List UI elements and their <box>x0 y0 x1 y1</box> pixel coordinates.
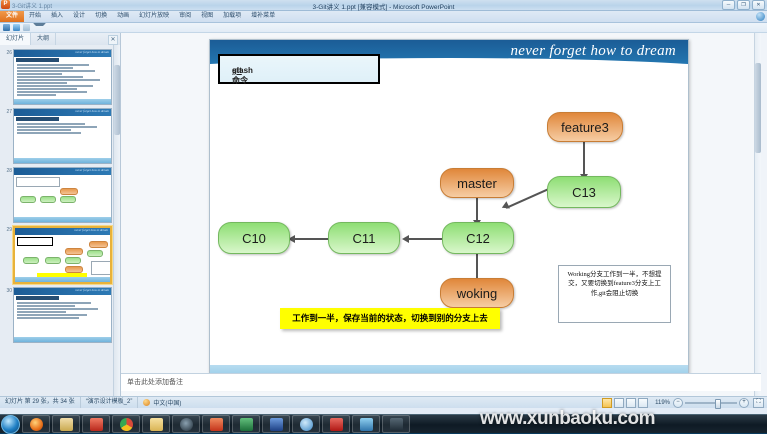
status-theme-name[interactable]: “演示设计模板_2” <box>81 397 139 408</box>
restore-button[interactable]: ❐ <box>737 0 750 10</box>
windows-start-orb-icon[interactable] <box>1 415 20 434</box>
taskbar-item-folder[interactable] <box>142 415 170 433</box>
zoom-slider-knob[interactable] <box>715 399 721 409</box>
thumbnail-list[interactable]: 26 never forget how to dream <box>0 45 114 406</box>
node-c13-label: C13 <box>572 185 596 200</box>
tab-outline[interactable]: 大纲 <box>31 33 56 45</box>
status-language-label: 中文(中国) <box>153 398 181 407</box>
mini-footer <box>14 217 111 222</box>
node-c13[interactable]: C13 <box>547 176 621 208</box>
thumbnail-number: 29 <box>1 226 12 233</box>
mini-banner: never forget how to dream <box>14 109 111 116</box>
mini-title-bar <box>16 58 59 62</box>
thumbnail-item[interactable]: 28 never forget how to dream <box>0 165 114 224</box>
thumbnail-item[interactable]: 30 never forget how to dream <box>0 285 114 344</box>
save-icon[interactable] <box>3 24 10 31</box>
mini-banner: never forget how to dream <box>14 50 111 57</box>
node-c12[interactable]: C12 <box>442 222 514 254</box>
status-slide-count: 幻灯片 第 29 张，共 34 张 <box>0 397 81 408</box>
ribbon-tab-addins[interactable]: 加载项 <box>218 11 246 22</box>
tab-slides[interactable]: 幻灯片 <box>0 33 31 45</box>
thumbnail-preview[interactable]: never forget how to dream <box>13 167 112 223</box>
window-controls: ─ ❐ ✕ <box>722 0 765 10</box>
node-feature3-label: feature3 <box>561 120 609 135</box>
chevron-down-icon[interactable] <box>33 23 46 33</box>
ribbon-tab-file[interactable]: 文件 <box>0 11 24 22</box>
quick-access-toolbar <box>0 23 767 33</box>
node-c10-label: C10 <box>242 231 266 246</box>
explanation-text-box[interactable]: Working分支工作到一半，不想提交，又要切换到feature3分支上工作,g… <box>558 265 671 323</box>
mini-banner: never forget how to dream <box>15 228 110 235</box>
slide-vertical-scrollbar[interactable] <box>754 33 761 406</box>
thumbnail-scrollbar-knob[interactable] <box>114 65 120 135</box>
thumbnail-number: 30 <box>1 287 12 294</box>
slide-banner-text: never forget how to dream <box>510 43 676 60</box>
node-c11[interactable]: C11 <box>328 222 400 254</box>
minimize-button[interactable]: ─ <box>722 0 735 10</box>
close-pane-icon[interactable]: ✕ <box>108 35 118 45</box>
taskbar-item-excel[interactable] <box>232 415 260 433</box>
slide-title-box[interactable]: git stash命令 <box>218 54 380 84</box>
node-c12-label: C12 <box>466 231 490 246</box>
powerpoint-window: P 3-Git讲义 1.ppt 3-Git讲义 1.ppt [兼容模式] - M… <box>0 0 767 414</box>
node-c10[interactable]: C10 <box>218 222 290 254</box>
mini-banner-text: never forget how to dream <box>75 288 109 292</box>
title-bar: P 3-Git讲义 1.ppt 3-Git讲义 1.ppt [兼容模式] - M… <box>0 0 767 11</box>
mini-title-bar <box>16 296 59 300</box>
mini-banner-text: never forget how to dream <box>75 168 109 172</box>
fit-to-window-button[interactable]: ⛶ <box>753 398 764 408</box>
zoom-out-button[interactable]: − <box>673 398 683 408</box>
mini-title-bar <box>16 117 59 121</box>
close-button[interactable]: ✕ <box>752 0 765 10</box>
current-slide[interactable]: never forget how to dream git stash命令 <box>209 39 689 388</box>
mini-banner-text: never forget how to dream <box>75 109 109 113</box>
language-globe-icon <box>143 399 150 406</box>
ribbon-tab-home[interactable]: 开始 <box>24 11 46 22</box>
node-master-label: master <box>457 176 497 191</box>
slide-thumbnail-pane: 幻灯片 大纲 ✕ 26 never forget how to dream <box>0 33 121 406</box>
taskbar-item-word[interactable] <box>262 415 290 433</box>
status-language[interactable]: 中文(中国) <box>138 398 186 407</box>
thumbnail-item-selected[interactable]: 29 never forget how to dream <box>0 224 114 285</box>
taskbar-item-chrome[interactable] <box>112 415 140 433</box>
mini-banner: never forget how to dream <box>14 168 111 175</box>
node-c11-label: C11 <box>353 231 376 246</box>
ribbon-tab-transitions[interactable]: 切换 <box>90 11 112 22</box>
mini-footer <box>14 99 111 104</box>
redo-icon[interactable] <box>23 24 30 31</box>
status-bar: 幻灯片 第 29 张，共 34 张 “演示设计模板_2” 中文(中国) 119%… <box>0 396 767 408</box>
ribbon-tab-insert[interactable]: 插入 <box>46 11 68 22</box>
arrow-master-c12 <box>476 196 478 222</box>
zoom-slider-track[interactable] <box>685 402 737 404</box>
arrowhead-c13-c12 <box>502 201 512 212</box>
thumbnail-preview[interactable]: never forget how to dream <box>13 108 112 164</box>
notes-pane[interactable]: 单击此处添加备注 <box>121 373 761 391</box>
arrow-woking-c12 <box>476 252 478 278</box>
slide-scrollbar-knob[interactable] <box>755 63 761 153</box>
view-buttons <box>598 398 652 408</box>
taskbar-item-explorer[interactable] <box>52 415 80 433</box>
thumbnail-item[interactable]: 27 never forget how to dream <box>0 106 114 165</box>
ribbon-tab-view[interactable]: 视图 <box>196 11 218 22</box>
mini-banner-text: never forget how to dream <box>75 50 109 54</box>
window-title: 3-Git讲义 1.ppt [兼容模式] - Microsoft PowerPo… <box>0 1 767 11</box>
reading-view-button[interactable] <box>626 398 636 408</box>
arrow-c12-c11 <box>406 238 442 240</box>
taskbar-item-acrobat[interactable] <box>322 415 350 433</box>
thumbnail-scrollbar[interactable] <box>113 45 120 406</box>
ribbon-tab-review[interactable]: 审阅 <box>174 11 196 22</box>
node-woking-label: woking <box>457 286 497 301</box>
ribbon-tab-extra-menu[interactable]: 增补菜单 <box>246 11 280 22</box>
slideshow-view-button[interactable] <box>638 398 648 408</box>
mini-banner: never forget how to dream <box>14 288 111 295</box>
zoom-in-button[interactable]: + <box>739 398 749 408</box>
taskbar-item-terminal[interactable] <box>382 415 410 433</box>
thumbnail-number: 28 <box>1 167 12 174</box>
thumbnail-number: 26 <box>1 49 12 56</box>
ribbon-tab-design[interactable]: 设计 <box>68 11 90 22</box>
thumbnail-preview[interactable]: never forget how to dream <box>13 287 112 343</box>
node-woking[interactable]: woking <box>440 278 514 308</box>
slide-title-suffix: stash命令 <box>232 66 253 86</box>
ribbon-tab-slideshow[interactable]: 幻灯片放映 <box>134 11 174 22</box>
highlight-callout-box[interactable]: 工作到一半，保存当前的状态，切换到别的分支上去 <box>280 308 500 329</box>
taskbar-item-firefox[interactable] <box>22 415 50 433</box>
zoom-level-label[interactable]: 119% <box>652 400 673 406</box>
node-feature3[interactable]: feature3 <box>547 112 623 142</box>
arrow-feature3-c13 <box>583 140 585 176</box>
mini-footer <box>15 277 110 282</box>
help-icon[interactable] <box>756 12 765 21</box>
taskbar-item-photo-viewer[interactable] <box>352 415 380 433</box>
workspace: 幻灯片 大纲 ✕ 26 never forget how to dream <box>0 33 767 406</box>
ribbon-tab-strip: 文件 开始 插入 设计 切换 动画 幻灯片放映 审阅 视图 加载项 增补菜单 <box>0 11 767 23</box>
ribbon-tab-animations[interactable]: 动画 <box>112 11 134 22</box>
windows-taskbar <box>0 414 767 433</box>
mini-banner-text: never forget how to dream <box>74 228 108 232</box>
node-master[interactable]: master <box>440 168 514 198</box>
thumbnail-preview[interactable]: never forget how to dream <box>13 226 112 284</box>
taskbar-item-powerpoint[interactable] <box>202 415 230 433</box>
slide-sorter-view-button[interactable] <box>614 398 624 408</box>
mini-footer <box>14 158 111 163</box>
mini-footer <box>14 337 111 342</box>
arrow-c11-c10 <box>292 238 328 240</box>
slide-edit-area: never forget how to dream git stash命令 <box>121 33 761 406</box>
taskbar-item-network[interactable] <box>292 415 320 433</box>
normal-view-button[interactable] <box>602 398 612 408</box>
thumbnail-number: 27 <box>1 108 12 115</box>
thumbnail-item[interactable]: 26 never forget how to dream <box>0 47 114 106</box>
taskbar-item-media-player[interactable] <box>172 415 200 433</box>
zoom-slider[interactable]: − + ⛶ <box>673 398 767 408</box>
taskbar-item-paint[interactable] <box>82 415 110 433</box>
thumbnail-preview[interactable]: never forget how to dream <box>13 49 112 105</box>
arrowhead-c12-c11 <box>402 235 409 243</box>
undo-icon[interactable] <box>13 24 20 31</box>
